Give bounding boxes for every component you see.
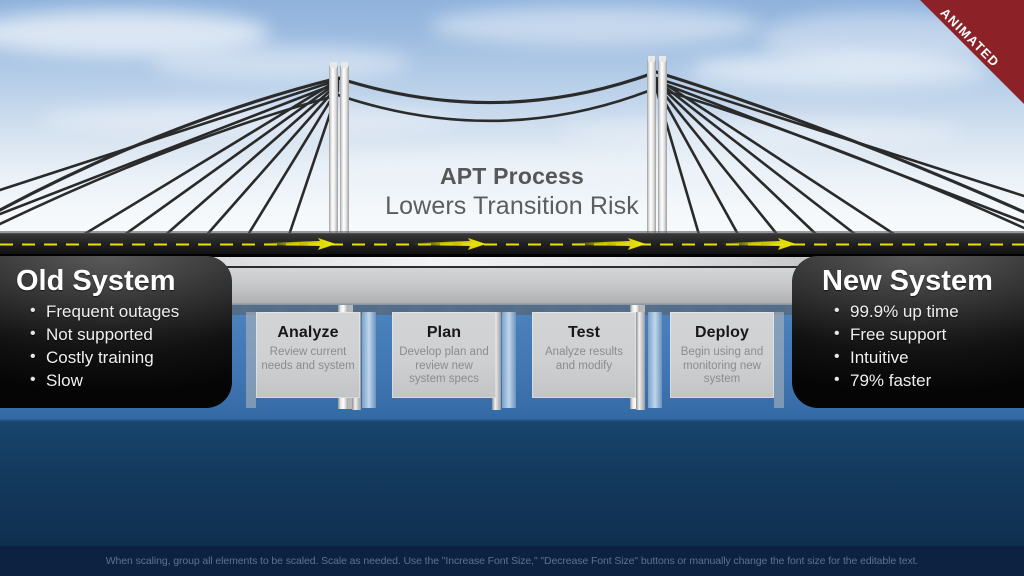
old-system-panel[interactable]: Old System Frequent outages Not supporte… bbox=[0, 256, 232, 408]
process-step-analyze[interactable]: Analyze Review current needs and system bbox=[256, 312, 360, 398]
animated-ribbon: ANIMATED bbox=[920, 0, 1024, 104]
process-step-description: Begin using and monitoring new system bbox=[670, 346, 774, 397]
process-step-title: Deploy bbox=[670, 324, 774, 342]
process-step-title: Analyze bbox=[256, 324, 360, 342]
main-cables bbox=[0, 72, 1024, 228]
list-item: 79% faster bbox=[834, 369, 1024, 392]
list-item: Slow bbox=[30, 369, 232, 392]
process-step-title: Test bbox=[532, 324, 636, 342]
process-step-plan[interactable]: Plan Develop plan and review new system … bbox=[392, 312, 496, 398]
list-item: 99.9% up time bbox=[834, 300, 1024, 323]
process-step-title: Plan bbox=[392, 324, 496, 342]
process-step-description: Review current needs and system bbox=[256, 346, 360, 383]
new-system-panel[interactable]: New System 99.9% up time Free support In… bbox=[792, 256, 1024, 408]
new-system-title: New System bbox=[792, 256, 1024, 297]
list-item: Costly training bbox=[30, 346, 232, 369]
footer-caption-text: When scaling, group all elements to be s… bbox=[106, 555, 919, 567]
list-item: Intuitive bbox=[834, 346, 1024, 369]
list-item: Frequent outages bbox=[30, 300, 232, 323]
list-item: Free support bbox=[834, 323, 1024, 346]
stay-cables-left-tower bbox=[0, 80, 338, 238]
process-step-description: Develop plan and review new system specs bbox=[392, 346, 496, 397]
process-step-test[interactable]: Test Analyze results and modify bbox=[532, 312, 636, 398]
old-system-bullet-list: Frequent outages Not supported Costly tr… bbox=[0, 300, 232, 392]
old-system-title: Old System bbox=[0, 256, 232, 297]
process-step-deploy[interactable]: Deploy Begin using and monitoring new sy… bbox=[670, 312, 774, 398]
new-system-bullet-list: 99.9% up time Free support Intuitive 79%… bbox=[792, 300, 1024, 392]
process-step-description: Analyze results and modify bbox=[532, 346, 636, 383]
list-item: Not supported bbox=[30, 323, 232, 346]
slide-canvas: APT Process Lowers Transition Risk bbox=[0, 0, 1024, 576]
ribbon-triangle bbox=[920, 0, 1024, 104]
footer-caption-band: When scaling, group all elements to be s… bbox=[0, 546, 1024, 576]
